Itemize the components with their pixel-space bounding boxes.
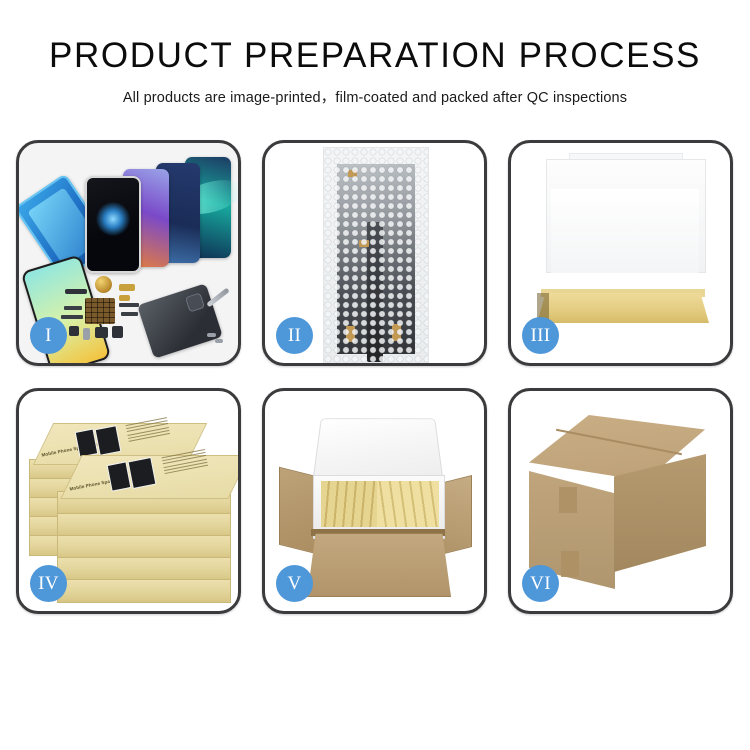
carton-tape-lower: [561, 551, 579, 577]
connector-part-1: [119, 284, 135, 291]
step-badge-1: I: [30, 317, 67, 354]
screw-part-2: [215, 339, 223, 343]
camera-module: [69, 326, 79, 336]
vibration-motor-part: [95, 276, 112, 293]
phone-back-housing: [137, 283, 223, 359]
screw-tray-part: [85, 298, 115, 324]
process-step-panel-4: Mobile Phone Spare Parts Mobile Phone Sp…: [16, 388, 241, 614]
button-part: [112, 326, 123, 338]
bubble-wrap-bag: [323, 147, 429, 363]
carton-front-panel: [307, 533, 451, 597]
step-badge-2: II: [276, 317, 313, 354]
flex-cable-4: [121, 312, 138, 316]
flex-cable-1: [64, 306, 82, 310]
step-badge-6: VI: [522, 565, 559, 602]
process-step-panel-5: V: [262, 388, 487, 614]
foam-box-lid: [313, 418, 444, 479]
page-header: PRODUCT PREPARATION PROCESS All products…: [0, 0, 750, 107]
process-step-panel-6: VI: [508, 388, 733, 614]
yellow-boxes-row-2: [377, 481, 439, 527]
stacked-box-r5: [57, 579, 231, 603]
process-step-panel-2: II: [262, 140, 487, 366]
screw-part-1: [207, 333, 216, 337]
process-step-grid: I II I: [16, 140, 734, 614]
box-front-panel: [537, 293, 709, 323]
phone-black-screen: [85, 176, 141, 273]
bubble-highlight-texture: [324, 148, 428, 363]
stacked-box-r2: [57, 513, 231, 537]
process-step-panel-1: I: [16, 140, 241, 366]
page-subtitle: All products are image-printed，film-coat…: [0, 86, 750, 107]
carton-tape-upper: [559, 487, 577, 513]
foam-sheet: [551, 189, 699, 273]
step-badge-3: III: [522, 317, 559, 354]
page-title: PRODUCT PREPARATION PROCESS: [0, 38, 750, 75]
sim-tray-part: [83, 328, 90, 340]
flex-cable-2: [61, 315, 83, 319]
speaker-part: [65, 289, 87, 294]
box-label-photo-front-2: [128, 457, 157, 489]
stacked-box-r3: [57, 535, 231, 559]
step-badge-5: V: [276, 565, 313, 602]
stacked-box-r4: [57, 557, 231, 581]
connector-part-2: [119, 295, 130, 301]
battery-connector: [95, 327, 108, 338]
flex-cable-3: [119, 303, 139, 307]
process-step-panel-3: III: [508, 140, 733, 366]
step-badge-4: IV: [30, 565, 67, 602]
